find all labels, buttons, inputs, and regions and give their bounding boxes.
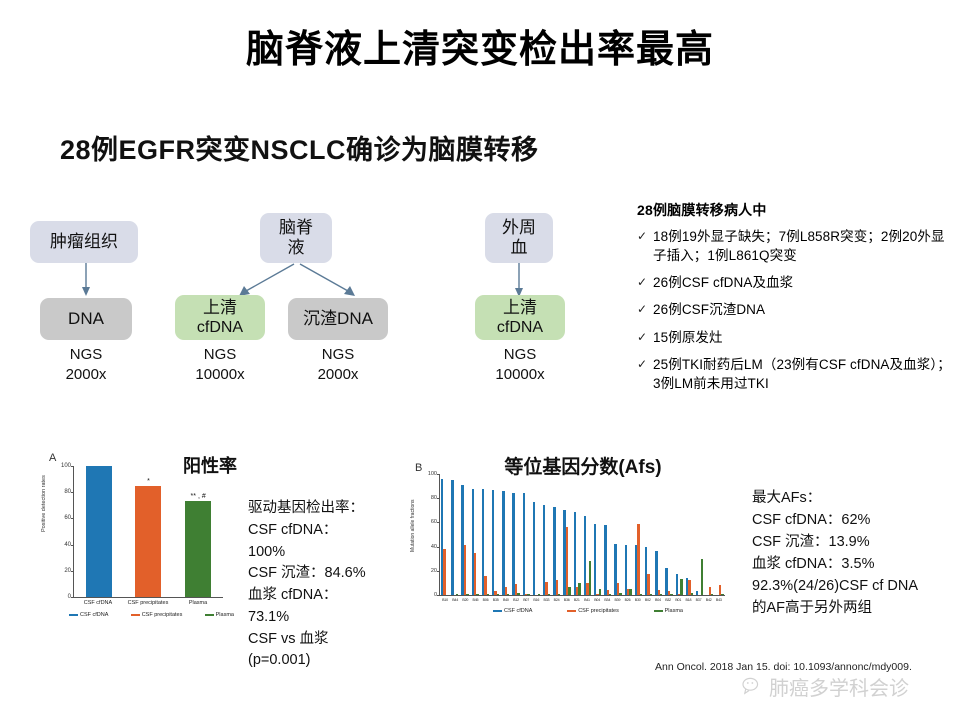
flow-node-tumor-tissue: 肿瘤组织 [30, 221, 138, 263]
legend-label: CSF precipitates [142, 612, 183, 618]
check-icon: ✓ [637, 355, 653, 372]
flow-node-tumor-tissue-line1: 肿瘤组织 [50, 232, 118, 251]
chart-b-bar [647, 574, 649, 595]
chart-b-xtick: B20 [460, 598, 470, 602]
chart-b-bar [538, 594, 540, 595]
chart-b-bar-group [625, 474, 632, 595]
bullet-text: 26例CSF沉渣DNA [653, 300, 765, 319]
chart-b-bar [670, 594, 672, 595]
chart-b-bar-group [635, 474, 642, 595]
chart-a-xtick: CSF cfDNA [75, 600, 121, 606]
chart-b-bar-groups [440, 474, 725, 595]
chart-b-bar [533, 502, 535, 595]
chart-b-ytick: 0 [434, 592, 437, 598]
chart-b-bar [464, 545, 466, 595]
chart-a-bar [135, 486, 161, 597]
chart-b-bar-group [563, 474, 570, 595]
chart-a-xticklabels: CSF cfDNACSF precipitatesPlasma [73, 600, 223, 606]
chart-b-bar-group [451, 474, 458, 595]
ngs-depth-csf-sup: 10000x [175, 365, 265, 385]
ngs-depth-plasma: 10000x [475, 365, 565, 385]
chart-b-bar [443, 549, 445, 595]
chart-a-plot-area: *** , # 020406080100 [73, 466, 223, 598]
chart-b-xtick: B41 [582, 598, 592, 602]
flow-node-plasma-supernatant-line1: 上清 [503, 298, 537, 317]
ngs-depth-tissue: 2000x [40, 365, 132, 385]
chart-b-bar [502, 491, 504, 595]
chart-b-bar-group [512, 474, 519, 595]
chart-b-bar-group [482, 474, 489, 595]
chart-a-legend-item: CSF precipitates [131, 612, 183, 618]
chart-b-xtick: B06 [481, 598, 491, 602]
page-subtitle: 28例EGFR突变NSCLC确诊为脑膜转移 [60, 128, 539, 167]
chart-b-bar [566, 527, 568, 595]
chart-b-xtick: B18 [683, 598, 693, 602]
chart-b-bar [609, 594, 611, 595]
chart-b-xtick: B10 [440, 598, 450, 602]
chart-b-bar-group [665, 474, 672, 595]
chart-b-bar [660, 594, 662, 595]
chart-b-bar-group [655, 474, 662, 595]
chart-b-xtick: B33 [541, 598, 551, 602]
chart-b-xtick: B37 [694, 598, 704, 602]
ngs-method-csf-pre: NGS [288, 345, 388, 365]
chart-b-ytick: 40 [431, 544, 437, 550]
chart-b-bar [604, 525, 606, 595]
chart-b-bar [456, 594, 458, 595]
chart-b-legend-item: Plasma [654, 608, 683, 614]
chart-b-plot-area: 020406080100 [439, 474, 725, 596]
chart-b-xtick: B26 [623, 598, 633, 602]
sample-flow-diagram: 肿瘤组织 脑脊 液 外周 血 [0, 195, 620, 405]
chart-b-xtick: B07 [521, 598, 531, 602]
chart-b-ytick: 80 [431, 495, 437, 501]
chart-a-legend-item: CSF cfDNA [69, 612, 108, 618]
chart-b-bar [487, 594, 489, 595]
chart-b-ytick: 60 [431, 519, 437, 525]
flow-node-plasma-supernatant: 上清 cfDNA [475, 295, 565, 340]
chart-b-mutation-allele-fractions: B Mutation allele fractions 020406080100… [413, 452, 743, 637]
flow-node-tissue-dna: DNA [40, 298, 132, 340]
chart-b-xtick: B01 [673, 598, 683, 602]
arrow-blood-to-supernatant [507, 263, 531, 299]
bullet-list-heading: 28例脑膜转移病人中 [637, 200, 957, 220]
ngs-label-csf-sup: NGS 10000x [175, 345, 265, 386]
check-icon: ✓ [637, 300, 653, 317]
flow-node-csf-precipitate-line1: 沉渣DNA [303, 309, 373, 328]
legend-swatch [567, 610, 576, 612]
chart-b-xtick: B24 [552, 598, 562, 602]
list-item: ✓ 18例19外显子缺失；7例L858R突变；2例20外显子插入；1例L861Q… [637, 227, 957, 265]
chart-b-xtick: B42 [704, 598, 714, 602]
legend-swatch [654, 610, 663, 612]
chart-b-bar [497, 594, 499, 595]
chart-b-bar-group [645, 474, 652, 595]
chart-b-ytick: 20 [431, 568, 437, 574]
ngs-label-csf-pre: NGS 2000x [288, 345, 388, 386]
summary-bullet-list: 28例脑膜转移病人中 ✓ 18例19外显子缺失；7例L858R突变；2例20外显… [637, 200, 957, 401]
list-item: ✓ 26例CSF cfDNA及血浆 [637, 273, 957, 292]
chart-a-xtick: CSF precipitates [125, 600, 171, 606]
chart-b-bar [476, 594, 478, 595]
legend-swatch [493, 610, 502, 612]
chart-b-bar [676, 574, 678, 595]
chart-b-bar [619, 593, 621, 595]
ngs-label-tissue: NGS 2000x [40, 345, 132, 386]
chart-b-bar [548, 594, 550, 595]
flow-node-plasma-supernatant-line2: cfDNA [497, 319, 543, 336]
legend-label: CSF precipitates [578, 608, 619, 614]
chart-b-bar-group [614, 474, 621, 595]
chart-b-xticklabels: B10B44B20B45B06B35B40B12B07B16B33B24B36B… [439, 598, 725, 602]
chart-b-bar-group [676, 474, 683, 595]
chart-b-bar-group [523, 474, 530, 595]
chart-a-legend: CSF cfDNACSF precipitatesPlasma [69, 612, 234, 618]
chart-b-bar-group [686, 474, 693, 595]
chart-b-bar [599, 589, 601, 595]
legend-label: Plasma [665, 608, 683, 614]
flow-node-csf-supernatant-line2: cfDNA [197, 319, 243, 336]
ngs-method-tissue: NGS [40, 345, 132, 365]
check-icon: ✓ [637, 273, 653, 290]
flow-node-csf-line2: 液 [288, 238, 305, 257]
driver-gene-detection-text: 驱动基因检出率： CSF cfDNA： 100% CSF 沉渣：84.6% 血浆… [248, 498, 366, 672]
chart-b-xtick: B30 [633, 598, 643, 602]
chart-a-ytick: 40 [64, 542, 71, 548]
chart-b-xtick: B39 [612, 598, 622, 602]
arrow-csf-to-precipitate [296, 261, 362, 301]
chart-b-xtick: B32 [663, 598, 673, 602]
chart-b-bar [578, 583, 580, 595]
chart-b-xtick: B21 [572, 598, 582, 602]
chart-b-bar [701, 559, 703, 595]
chart-b-bar [523, 493, 525, 595]
arrow-tumor-to-dna [74, 263, 98, 298]
flow-node-tissue-dna-line1: DNA [68, 309, 104, 328]
chart-b-bar-group [543, 474, 550, 595]
panel-letter-b: B [415, 462, 422, 474]
chart-b-bar-group [594, 474, 601, 595]
legend-label: CSF cfDNA [80, 612, 108, 618]
chart-b-bar [474, 553, 476, 595]
chart-b-bar [589, 561, 591, 595]
chart-b-bar [507, 594, 509, 595]
chart-a-bar-group: ** , # [184, 466, 212, 597]
chart-b-bar-group [553, 474, 560, 595]
legend-label: Plasma [216, 612, 234, 618]
chart-b-bar [637, 524, 639, 595]
chart-b-bar [492, 490, 494, 595]
list-item: ✓ 15例原发灶 [637, 328, 957, 347]
ngs-label-plasma: NGS 10000x [475, 345, 565, 386]
chart-a-significance-marker: * [134, 478, 162, 485]
chart-b-bar [558, 594, 560, 595]
flow-node-csf-line1: 脑脊 [279, 218, 313, 237]
chart-b-bar-group [533, 474, 540, 595]
chart-b-xtick: B35 [491, 598, 501, 602]
bullet-text: 18例19外显子缺失；7例L858R突变；2例20外显子插入；1例L861Q突变 [653, 227, 957, 265]
chart-b-bar [594, 524, 596, 595]
list-item: ✓ 26例CSF沉渣DNA [637, 300, 957, 319]
chart-b-bar [568, 587, 570, 595]
chart-a-ytick: 100 [61, 463, 71, 469]
chart-a-significance-marker: ** , # [184, 493, 212, 500]
legend-swatch [205, 614, 214, 616]
legend-swatch [69, 614, 78, 616]
chart-b-legend-item: CSF precipitates [567, 608, 619, 614]
chart-a-ytick: 80 [64, 489, 71, 495]
chart-a-bar-group [85, 466, 113, 597]
chart-b-ytick: 100 [428, 471, 437, 477]
chart-b-bar [466, 594, 468, 595]
chart-b-bar [517, 593, 519, 595]
ngs-method-csf-sup: NGS [175, 345, 265, 365]
bullet-text: 26例CSF cfDNA及血浆 [653, 273, 793, 292]
chart-b-xtick: B45 [470, 598, 480, 602]
flow-node-peripheral-blood-line1: 外周 [502, 218, 536, 237]
chart-b-xtick: B12 [511, 598, 521, 602]
chart-a-bar [185, 501, 211, 597]
chart-a-ylabel: Positive detection rates [41, 475, 47, 532]
flow-node-csf-supernatant: 上清 cfDNA [175, 295, 265, 340]
chart-b-bar [629, 589, 631, 595]
chart-b-bar-group [604, 474, 611, 595]
bullet-text: 25例TKI耐药后LM（23例有CSF cfDNA及血浆）；3例LM前未用过TK… [653, 355, 957, 393]
chart-b-bar-group [696, 474, 703, 595]
chart-b-bar-group [706, 474, 713, 595]
chart-b-bar [451, 480, 453, 595]
flow-node-peripheral-blood: 外周 血 [485, 213, 553, 263]
chart-a-legend-item: Plasma [205, 612, 234, 618]
chart-b-xtick: B43 [714, 598, 724, 602]
chart-b-xtick: B02 [643, 598, 653, 602]
check-icon: ✓ [637, 328, 653, 345]
chart-b-bar-group [492, 474, 499, 595]
chart-b-bar [696, 591, 698, 595]
page-title: 脑脊液上清突变检出率最高 [0, 18, 960, 73]
chart-a-bars: *** , # [74, 466, 223, 597]
watermark-text: 肺癌多学科会诊 [769, 672, 909, 701]
ngs-depth-csf-pre: 2000x [288, 365, 388, 385]
chart-b-xtick: B04 [653, 598, 663, 602]
panel-letter-a: A [49, 452, 56, 464]
chart-b-legend: CSF cfDNACSF precipitatesPlasma [493, 608, 683, 614]
chart-b-legend-item: CSF cfDNA [493, 608, 532, 614]
list-item: ✓ 25例TKI耐药后LM（23例有CSF cfDNA及血浆）；3例LM前未用过… [637, 355, 957, 393]
chart-b-bar-group [502, 474, 509, 595]
watermark: 肺癌多学科会诊 [742, 672, 909, 701]
chart-b-xtick: B34 [602, 598, 612, 602]
chart-a-bar [86, 466, 112, 597]
chart-b-bar-group [574, 474, 581, 595]
chart-b-ylabel: Mutation allele fractions [410, 499, 416, 552]
chart-b-xtick: B40 [501, 598, 511, 602]
flow-node-csf-supernatant-line1: 上清 [203, 298, 237, 317]
chart-b-bar [680, 579, 682, 595]
chart-b-bar [512, 493, 514, 595]
chart-b-bar [655, 551, 657, 595]
slide-root: 脑脊液上清突变检出率最高 28例EGFR突变NSCLC确诊为脑膜转移 肿瘤组织 … [0, 0, 960, 720]
max-af-text: 最大AFs： CSF cfDNA：62% CSF 沉渣：13.9% 血浆 cfD… [752, 487, 918, 619]
chart-a-ytick: 60 [64, 515, 71, 521]
chart-a-ytick: 20 [64, 568, 71, 574]
chart-b-bar [721, 594, 723, 595]
chart-b-bar [484, 576, 486, 595]
chart-b-bar [527, 594, 529, 595]
chart-b-xtick: B16 [531, 598, 541, 602]
flow-node-csf: 脑脊 液 [260, 213, 332, 263]
chart-b-bar [625, 545, 627, 595]
legend-label: CSF cfDNA [504, 608, 532, 614]
chart-b-bar-group [441, 474, 448, 595]
wechat-icon [742, 677, 764, 697]
chart-a-positive-detection-rates: A Positive detection rates *** , # 02040… [45, 452, 245, 637]
bullet-text: 15例原发灶 [653, 328, 723, 347]
chart-b-bar-group [716, 474, 723, 595]
chart-a-xtick: Plasma [175, 600, 221, 606]
chart-b-bar-group [472, 474, 479, 595]
ngs-method-plasma: NGS [475, 345, 565, 365]
chart-b-xtick: B44 [450, 598, 460, 602]
chart-b-xtick: B36 [562, 598, 572, 602]
legend-swatch [131, 614, 140, 616]
chart-a-bar-group: * [134, 466, 162, 597]
chart-b-bar [691, 593, 693, 595]
flow-node-peripheral-blood-line2: 血 [511, 238, 528, 257]
chart-b-xtick: B04 [592, 598, 602, 602]
chart-b-bar [574, 512, 576, 595]
check-icon: ✓ [637, 227, 653, 244]
chart-b-bar [640, 594, 642, 595]
chart-b-bar-group [461, 474, 468, 595]
chart-b-bar [650, 594, 652, 595]
chart-b-bar [711, 594, 713, 595]
chart-b-bar-group [584, 474, 591, 595]
flow-node-csf-precipitate: 沉渣DNA [288, 298, 388, 340]
chart-a-ytick: 0 [68, 594, 71, 600]
